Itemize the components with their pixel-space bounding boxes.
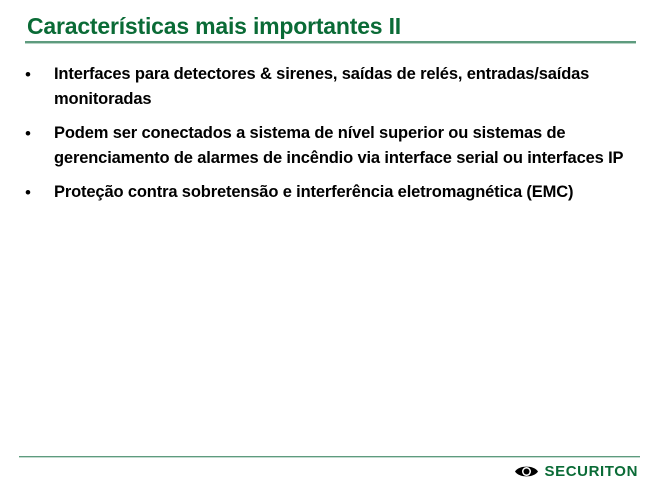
presentation-slide: Características mais importantes II • In… bbox=[0, 0, 655, 491]
bullet-list: • Interfaces para detectores & sirenes, … bbox=[20, 62, 636, 214]
bullet-marker-icon: • bbox=[20, 180, 54, 205]
bullet-marker-icon: • bbox=[20, 121, 54, 146]
logo-wordmark: SECURITON bbox=[545, 464, 638, 479]
list-item: • Podem ser conectados a sistema de níve… bbox=[20, 121, 636, 171]
bullet-text: Proteção contra sobretensão e interferên… bbox=[54, 180, 636, 205]
bullet-marker-icon: • bbox=[20, 62, 54, 87]
title-divider-shadow bbox=[25, 43, 636, 44]
list-item: • Interfaces para detectores & sirenes, … bbox=[20, 62, 636, 112]
securiton-logo: SECURITON bbox=[514, 464, 638, 479]
bullet-text: Podem ser conectados a sistema de nível … bbox=[54, 121, 636, 171]
list-item: • Proteção contra sobretensão e interfer… bbox=[20, 180, 636, 205]
bullet-text: Interfaces para detectores & sirenes, sa… bbox=[54, 62, 636, 112]
eye-icon bbox=[514, 464, 539, 479]
slide-title: Características mais importantes II bbox=[27, 12, 627, 40]
footer-divider-shadow bbox=[19, 457, 640, 458]
